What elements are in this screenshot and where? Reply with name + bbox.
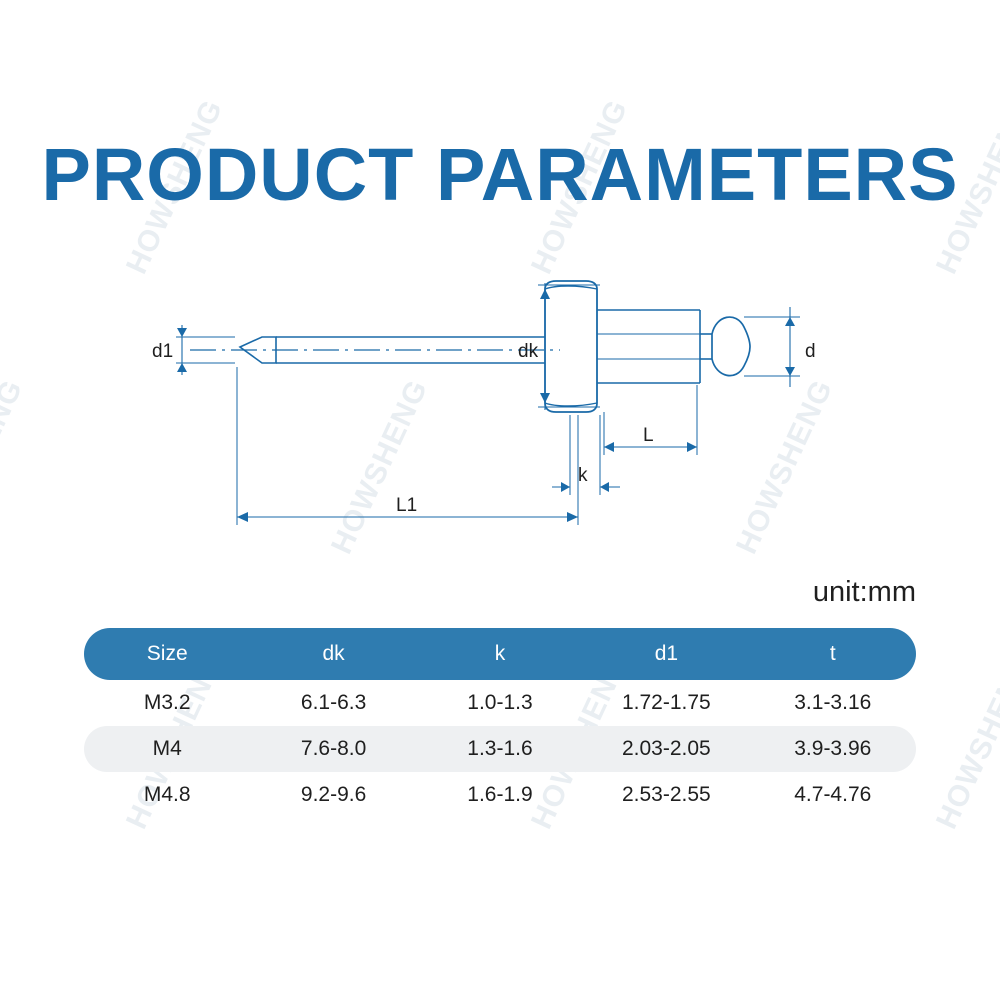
- cell-dk: 7.6-8.0: [250, 726, 416, 772]
- cell-t: 4.7-4.76: [750, 772, 916, 818]
- cell-t: 3.9-3.96: [750, 726, 916, 772]
- watermark-text: HOWSHENG: [320, 0, 430, 4]
- table-header-row: Size dk k d1 t: [84, 628, 916, 680]
- watermark-text: HOWSHENG: [0, 0, 30, 24]
- column-header-dk: dk: [250, 628, 416, 680]
- watermark-text: HOWSHENG: [725, 0, 835, 4]
- cell-d1: 2.03-2.05: [583, 726, 749, 772]
- page-title: PRODUCT PARAMETERS: [0, 132, 1000, 217]
- table-row: M3.2 6.1-6.3 1.0-1.3 1.72-1.75 3.1-3.16: [84, 680, 916, 726]
- column-header-k: k: [417, 628, 583, 680]
- table-row: M4 7.6-8.0 1.3-1.6 2.03-2.05 3.9-3.96: [84, 726, 916, 772]
- cell-size: M4.8: [84, 772, 250, 818]
- dimension-label-k: k: [578, 465, 588, 486]
- parameter-table: Size dk k d1 t M3.2 6.1-6.3 1.0-1.3 1.72…: [84, 628, 916, 818]
- dimension-label-L: L: [643, 425, 654, 446]
- column-header-d1: d1: [583, 628, 749, 680]
- cell-t: 3.1-3.16: [750, 680, 916, 726]
- cell-k: 1.0-1.3: [417, 680, 583, 726]
- rivet-technical-drawing: d1 dk d L k L1: [0, 255, 1000, 555]
- dimension-label-L1: L1: [396, 495, 417, 516]
- cell-d1: 2.53-2.55: [583, 772, 749, 818]
- cell-dk: 6.1-6.3: [250, 680, 416, 726]
- column-header-size: Size: [84, 628, 250, 680]
- table-header: Size dk k d1 t: [84, 628, 916, 680]
- parameter-table-wrapper: Size dk k d1 t M3.2 6.1-6.3 1.0-1.3 1.72…: [84, 628, 916, 818]
- cell-d1: 1.72-1.75: [583, 680, 749, 726]
- dimension-label-dk: dk: [518, 341, 539, 362]
- watermark-text: HOWSHENG: [930, 650, 1000, 835]
- dimension-label-d1: d1: [152, 341, 173, 362]
- cell-size: M4: [84, 726, 250, 772]
- unit-label: unit:mm: [813, 576, 916, 609]
- column-header-t: t: [750, 628, 916, 680]
- cell-dk: 9.2-9.6: [250, 772, 416, 818]
- table-body: M3.2 6.1-6.3 1.0-1.3 1.72-1.75 3.1-3.16 …: [84, 680, 916, 818]
- cell-k: 1.3-1.6: [417, 726, 583, 772]
- table-row: M4.8 9.2-9.6 1.6-1.9 2.53-2.55 4.7-4.76: [84, 772, 916, 818]
- cell-size: M3.2: [84, 680, 250, 726]
- cell-k: 1.6-1.9: [417, 772, 583, 818]
- dimension-label-d: d: [805, 341, 816, 362]
